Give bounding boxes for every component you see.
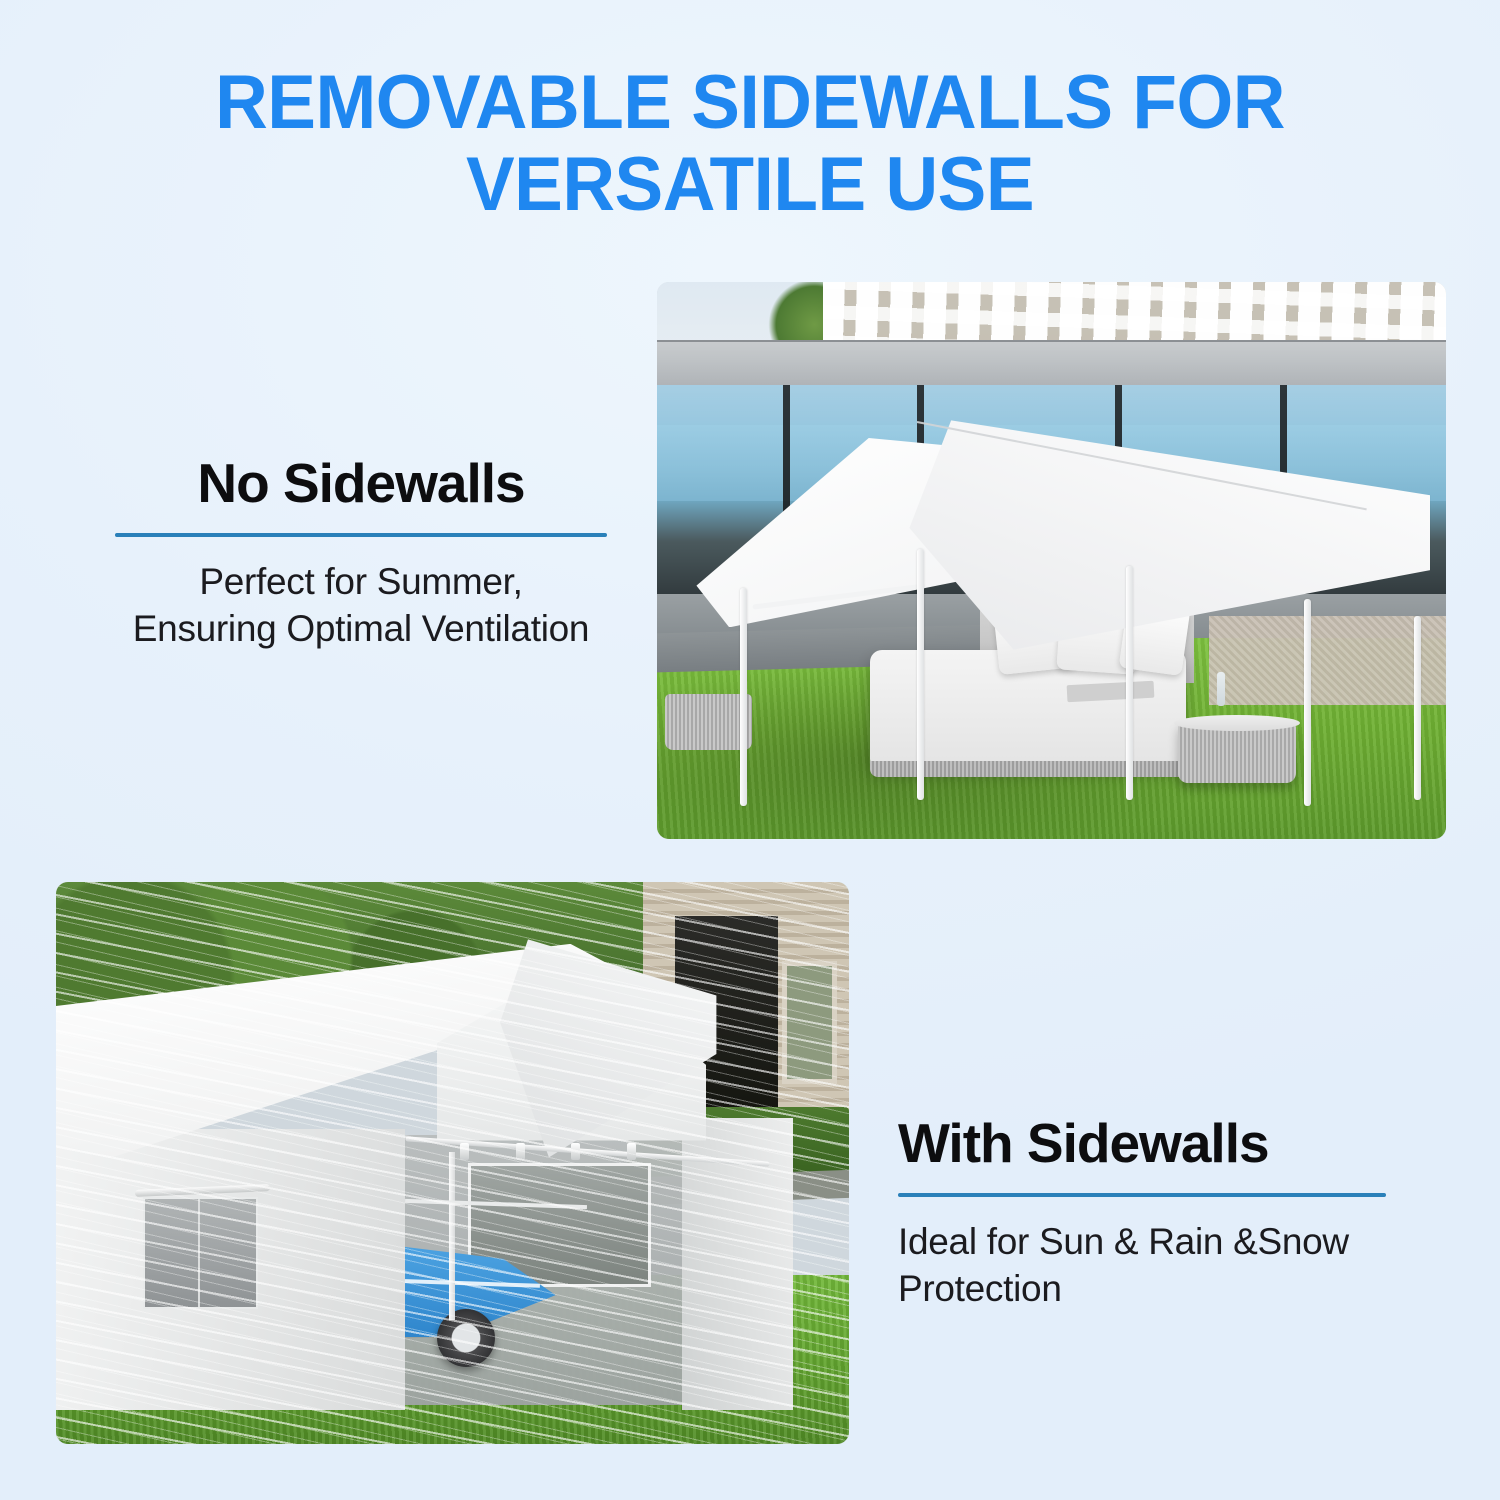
divider-with-sidewalls xyxy=(898,1193,1386,1197)
gravel-area xyxy=(1209,616,1446,705)
photo-no-sidewalls xyxy=(657,282,1446,839)
page-title-line-1: REMOVABLE SIDEWALLS FOR xyxy=(30,62,1470,144)
canopy-leg xyxy=(1414,616,1421,800)
feature-subtitle-line-2: Ensuring Optimal Ventilation xyxy=(85,606,637,653)
feature-subtitle-line-1: Ideal for Sun & Rain &Snow xyxy=(898,1219,1418,1266)
bottle xyxy=(1217,672,1225,706)
canopy-leg xyxy=(917,549,924,800)
side-stool xyxy=(665,694,752,750)
canopy-leg xyxy=(740,588,747,805)
feature-block-no-sidewalls: No Sidewalls Perfect for Summer, Ensurin… xyxy=(85,455,637,653)
sidewall-clip xyxy=(460,1143,469,1160)
round-side-table xyxy=(1178,722,1296,783)
feature-block-with-sidewalls: With Sidewalls Ideal for Sun & Rain &Sno… xyxy=(898,1115,1418,1313)
page-title-line-2: VERSATILE USE xyxy=(30,144,1470,226)
feature-heading-with-sidewalls: With Sidewalls xyxy=(898,1115,1418,1173)
house-window xyxy=(782,961,838,1085)
page-title: REMOVABLE SIDEWALLS FOR VERSATILE USE xyxy=(30,62,1470,226)
divider-no-sidewalls xyxy=(115,533,607,537)
sidewall-clip xyxy=(571,1143,580,1160)
canopy-leg xyxy=(1304,599,1311,805)
feature-heading-no-sidewalls: No Sidewalls xyxy=(85,455,637,513)
feature-subtitle-with-sidewalls: Ideal for Sun & Rain &Snow Protection xyxy=(898,1219,1418,1313)
sidewall-clip xyxy=(516,1143,525,1160)
carport-post xyxy=(449,1152,455,1321)
sidewall-mesh-window-left xyxy=(143,1197,258,1309)
canopy-leg xyxy=(1126,566,1133,800)
photo-with-sidewalls-scene xyxy=(56,882,849,1444)
photo-no-sidewalls-scene xyxy=(657,282,1446,839)
pergola-lattice xyxy=(823,282,1446,349)
house-roof-fascia xyxy=(657,340,1446,387)
feature-subtitle-line-2: Protection xyxy=(898,1266,1418,1313)
feature-subtitle-line-1: Perfect for Summer, xyxy=(85,559,637,606)
photo-with-sidewalls xyxy=(56,882,849,1444)
sidewall-clip xyxy=(627,1143,636,1160)
feature-subtitle-no-sidewalls: Perfect for Summer, Ensuring Optimal Ven… xyxy=(85,559,637,653)
trailer-wheel xyxy=(437,1309,495,1367)
